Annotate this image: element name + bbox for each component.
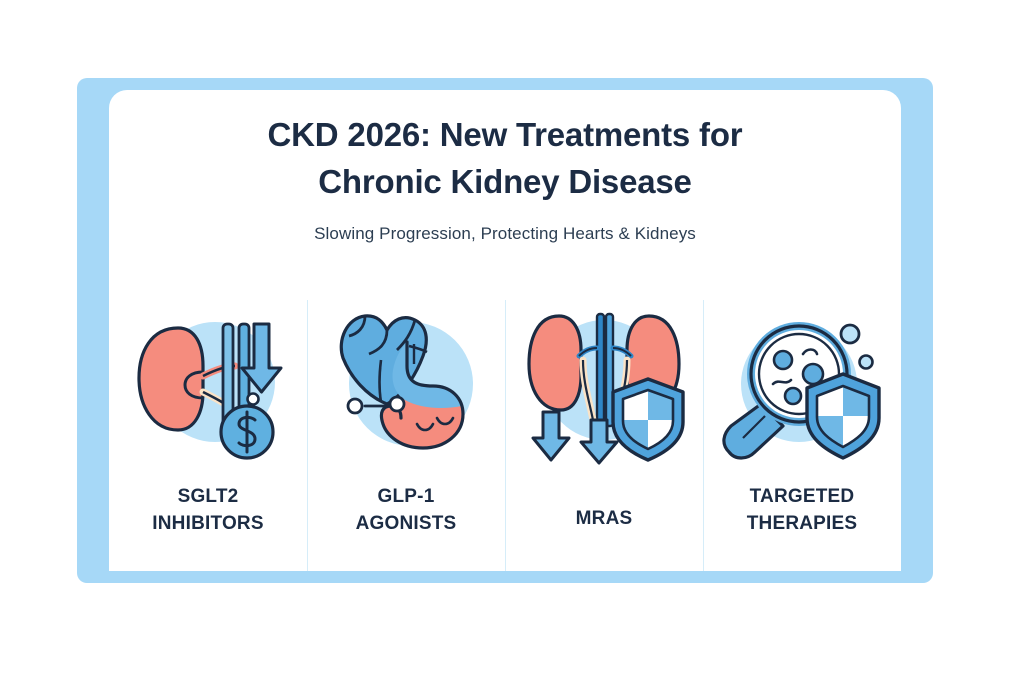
treatment-column-glp1[interactable]: GLP-1 AGONISTS [307, 300, 505, 571]
treatment-column-targeted[interactable]: TARGETED THERAPIES [703, 300, 901, 571]
treatment-label-targeted: TARGETED THERAPIES [747, 484, 858, 538]
treatment-label-mras: MRAS [576, 506, 633, 533]
treatment-label-glp1: GLP-1 AGONISTS [356, 484, 457, 538]
kidney-arrow-glucose-icon [123, 300, 293, 470]
infographic-frame: CKD 2026: New Treatments for Chronic Kid… [77, 78, 933, 583]
treatment-column-mras[interactable]: MRAS [505, 300, 703, 571]
heart-stomach-icon [321, 300, 491, 470]
treatment-column-sglt2[interactable]: SGLT2 INHIBITORS [109, 300, 307, 571]
heading-block: CKD 2026: New Treatments for Chronic Kid… [109, 112, 901, 244]
magnifier-cells-shield-icon [717, 300, 887, 470]
page-title: CKD 2026: New Treatments for Chronic Kid… [225, 112, 785, 206]
treatment-columns: SGLT2 INHIBITORS [109, 300, 901, 571]
treatment-label-sglt2: SGLT2 INHIBITORS [152, 484, 263, 538]
page-subtitle: Slowing Progression, Protecting Hearts &… [109, 224, 901, 244]
kidneys-arrows-shield-icon [519, 300, 689, 470]
infographic-card: CKD 2026: New Treatments for Chronic Kid… [109, 90, 901, 571]
